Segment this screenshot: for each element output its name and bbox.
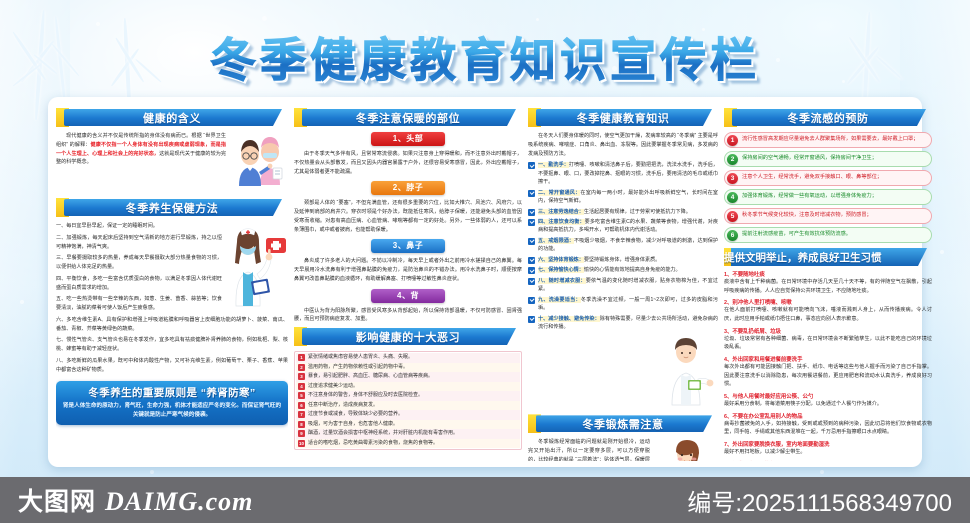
checklist-body: 生活起居要有规律，过于劳累可使抵抗力下降。	[584, 209, 691, 215]
section-header-winter-wellness: 冬季养生保健方法	[56, 198, 288, 217]
part-badge-head: 1、头部	[371, 132, 445, 146]
habit-text: 暴食，易引起肥胖、高血压、糖尿病、心血管病等疾病。	[308, 373, 433, 381]
list-item: 1流行性感冒高发期应尽量避免去人群聚集场所，如果需要去，最好戴上口罩；	[724, 132, 932, 148]
habit-number: 9	[298, 430, 305, 437]
habit-text: 过度节食或减食，导致体缺少必要的营养。	[308, 411, 403, 419]
bad-habits-list: 1紧张情绪或焦虑容易使人患胃炎、头痛、失眠。 2滥用药物，产生药物依赖性或引起药…	[294, 351, 522, 450]
check-icon	[528, 278, 535, 285]
running-girl-illustration	[654, 438, 718, 461]
checklist-lead: 十、减少接触、避免传染：	[538, 316, 600, 322]
list-item: 3、不要乱扔纸屑、垃圾垃圾、垃圾常常有各种细菌、病毒，在日常环境会不断繁殖孳生，…	[724, 327, 932, 352]
section-title: 冬季养生保健方法	[56, 200, 288, 216]
list-item: 五、戒烟限酒：不吸烟少吸烟，不食辛辣食物，减少对呼吸道的刺激，达到保护的功能。	[528, 237, 718, 254]
winter-principle-box: 冬季养生的重要原则是 “养肾防寒” 肾是人体生命的原动力，肾气旺，生命力强，机体…	[56, 381, 288, 425]
watermark-left: 大图网 DAIMG.com	[18, 482, 253, 518]
list-item: 七、保持愉快心情：愉快的心情能有效地提高自身免疫的能力。	[528, 266, 718, 274]
hygiene-head: 3、不要乱扔纸屑、垃圾	[724, 327, 932, 335]
list-item: 6、不要在办公室乱用别人的物品病毒抄菌被免的入手，如持接触，受到或或预到的病种污…	[724, 412, 932, 437]
habit-number: 8	[298, 421, 305, 428]
wellness-item: 八、多吃新鲜的瓜果水果，既可中和体内酸性产物，又可补充维生素，例如葡萄干、栗子、…	[56, 357, 288, 375]
doctor-illustration	[662, 335, 718, 412]
content-panel: 健康的含义	[48, 97, 922, 467]
habit-text: 滥用药物，产生药物依赖性或引起药物中毒。	[308, 364, 408, 372]
list-item: 7过度节食或减食，导致体缺少必要的营养。	[296, 410, 520, 420]
item-text: 秋冬季节气候变化较快，注意及时增减衣物，预防感冒；	[742, 212, 872, 219]
list-item: 四、注意饮食均衡：要多吃富含维生素C的水果、蔬菜等食物，增强代谢，对疾病和提高抵…	[528, 218, 718, 235]
hygiene-body: 最好采用分食制，将每道菜用筷子分配，以免通过个人餐勺作为媒介。	[724, 400, 932, 409]
item-number: 5	[727, 211, 738, 222]
habit-number: 6	[298, 402, 305, 409]
item-number: 3	[727, 173, 738, 184]
part-badge-back: 4、背	[371, 289, 445, 303]
hygiene-body: 在他人面前打喷嚏、咳嗽就有可能喷向飞沫，唾液而溅到人身上，从而传播疾病。令人讨厌…	[724, 306, 932, 323]
checklist-text: 一、勤洗手：打喷嚏、咳嗽和清洁鼻子后，要勤把把洗，洗法水洗手，洗手后，不要抠鼻、…	[538, 161, 718, 186]
section-title: 影响健康的十大恶习	[294, 329, 522, 345]
checklist-lead: 六、坚持体育锻炼：	[538, 257, 584, 263]
list-item: 4、外出回家和用餐进餐前要洗手每次外出都有可能因接触门把、扶手、纸巾、电话等这些…	[724, 355, 932, 389]
habit-text: 紧张情绪或焦虑容易使人患胃炎、头痛、失眠。	[308, 354, 413, 362]
hygiene-body: 病毒抄菌被免的入手，如持接触，受到或或预到的病种污染，因此切忌将他们饮食物或衣物…	[724, 420, 932, 437]
item-number: 4	[727, 192, 738, 203]
list-item: 二、常开窗通风：在室内每一两小时，最好能外出呼吸新鲜空气，长时间在室内，保持空气…	[528, 189, 718, 206]
hygiene-head: 7、外出回家要脱换衣服，室内地面要勤湿洗	[724, 440, 932, 448]
section-title: 冬季流感的预防	[724, 110, 932, 126]
check-icon	[528, 297, 535, 304]
item-text: 保持房间的空气通畅，经常开窗通风，保持房间干净卫生；	[742, 155, 877, 162]
check-icon	[528, 190, 535, 197]
checklist-lead: 三、注意劳逸结合：	[538, 209, 584, 215]
education-checklist: 一、勤洗手：打喷嚏、咳嗽和清洁鼻子后，要勤把把洗，洗法水洗手，洗手后，不要抠鼻、…	[528, 161, 718, 331]
check-icon	[528, 316, 535, 323]
part-text-head: 由于冬季天气多伴有风，且常常寒流侵袭。如果只注意身上穿得暖和，而不注意外出时戴帽…	[294, 150, 522, 176]
check-icon	[528, 238, 535, 245]
item-text: 提前注射流感疫苗，可产生有效抗体预防流感。	[742, 231, 851, 238]
section-title: 冬季健康教育知识	[528, 110, 718, 126]
habit-text: 过度追求健美少运动。	[308, 383, 358, 391]
section-title: 提供文明举止，养成良好卫生习惯	[724, 252, 882, 264]
hygiene-habits-list: 1、不要随地吐痰痰液中含有上千种病菌。在日常环境中存活几天至几十天不等，有的伴随…	[724, 270, 932, 461]
nurse-illustration	[226, 222, 288, 313]
list-item: 8、经常开窗通风换气无论春、夏、秋、冬，每天均应开窗通风换气，开启空调时，也应如…	[724, 460, 932, 461]
check-icon	[528, 257, 535, 264]
wellness-item: 七、慢性气管炎、支气管炎也易在冬季发作，宜多吃具有祛痰健脾补肾养肺的食物，例如枇…	[56, 336, 288, 354]
hygiene-head: 8、经常开窗通风换气	[724, 460, 932, 461]
asset-code: 编号:2025111568349700	[687, 483, 952, 518]
list-item: 八、随时增减衣服：要依气温的变化随时增减衣服，贴身衣物棉为佳，不宜过紧。	[528, 277, 718, 294]
habit-number: 7	[298, 411, 305, 418]
checklist-text: 十、减少接触、避免传染：除有特殊需要，尽量少去公共场所活动，避免杂病的流行和传播…	[538, 315, 718, 332]
section-header-winter-exercise: 冬季锻炼需注意	[528, 414, 718, 433]
checklist-body: 要坚持锻炼身体，增强身体素质。	[584, 257, 660, 263]
check-icon	[528, 267, 535, 274]
list-item: 2、别冲他人里打喷嚏、咳嗽在他人面前打喷嚏、咳嗽就有可能喷向飞沫，唾液而溅到人身…	[724, 298, 932, 323]
checklist-body: 愉快的心情能有效地提高自身免疫的能力。	[584, 267, 681, 273]
watermark-cn: 大图网	[18, 482, 96, 518]
list-item: 4过度追求健美少运动。	[296, 382, 520, 392]
item-text: 加强体育锻炼，经常做一些有氧运动，以增强身体免疫力；	[742, 193, 877, 200]
checklist-lead: 九、洗澡要适当：	[538, 297, 581, 303]
column-education-knowledge: 冬季健康教育知识 在冬天人们要身体暖的同时，使空气更加干燥，发病率较高的 “冬季…	[528, 105, 718, 461]
section-header-hygiene-habits: 提供文明举止，养成良好卫生习惯	[724, 248, 932, 266]
list-item: 6任意中断治疗，造成疾病复发。	[296, 401, 520, 411]
section-header-winter-education: 冬季健康教育知识	[528, 108, 718, 127]
habit-number: 4	[298, 383, 305, 390]
list-item: 九、洗澡要适当：冬季洗澡不宜过频，一般一周1~2次即可，过多的皮脂和污垢。	[528, 296, 718, 313]
checklist-lead: 五、戒烟限酒：	[538, 238, 574, 244]
education-intro: 在冬天人们要身体暖的同时，使空气更加干燥，发病率较高的 “冬季病” 主要是呼吸系…	[528, 132, 718, 158]
item-number: 2	[727, 154, 738, 165]
list-item: 5不注意身体的警告，身体不舒服应及时去医院检查。	[296, 391, 520, 401]
habit-text: 不注意身体的警告，身体不舒服应及时去医院检查。	[308, 392, 423, 400]
habit-number: 5	[298, 392, 305, 399]
checklist-text: 八、随时增减衣服：要依气温的变化随时增减衣服，贴身衣物棉为佳，不宜过紧。	[538, 277, 718, 294]
habit-text: 适合的嗜吃烟，忌吃黄曲霉素污染的食物，烧焦的食物等。	[308, 440, 438, 448]
list-item: 2保持房间的空气通畅，经常开窗通风，保持房间干净卫生；	[724, 151, 932, 167]
section-title: 冬季锻炼需注意	[528, 416, 718, 432]
column-health-basics: 健康的含义	[56, 105, 288, 461]
habit-number: 10	[298, 440, 305, 447]
list-item: 4加强体育锻炼，经常做一些有氧运动，以增强身体免疫力；	[724, 189, 932, 205]
habit-text: 任意中断治疗，造成疾病复发。	[308, 402, 378, 410]
section-header-keep-warm-parts: 冬季注意保暖的部位	[294, 108, 522, 127]
section-title: 健康的含义	[56, 110, 288, 126]
list-item: 7、外出回家要脱换衣服，室内地面要勤湿洗最好不用扫地板，以减少解尘带生。	[724, 440, 932, 457]
hygiene-body: 痰液中含有上千种病菌。在日常环境中存活几天至几十天不等，有的伴随空气在飘散，引起…	[724, 278, 932, 295]
checklist-lead: 七、保持愉快心情：	[538, 267, 584, 273]
item-number: 1	[727, 135, 738, 146]
hygiene-body: 每次外出都有可能因接触门把、扶手、纸巾、电话等这些与他人握手而污染了自己手指掌。…	[724, 363, 932, 389]
checklist-lead: 八、随时增减衣服：	[538, 278, 586, 284]
list-item: 5、与他人用餐时最好应用公筷、公勺最好采用分食制，将每道菜用筷子分配，以免通过个…	[724, 392, 932, 409]
part-text-back: 中医认为背为阳脉所聚，感冒受风寒多从背部起始，所以保持背部温暖，不仅可防感冒、固…	[294, 307, 522, 325]
list-item: 1、不要随地吐痰痰液中含有上千种病菌。在日常环境中存活几天至几十天不等，有的伴随…	[724, 270, 932, 295]
list-item: 1紧张情绪或焦虑容易使人患胃炎、头痛、失眠。	[296, 353, 520, 363]
column-body-parts: 冬季注意保暖的部位 1、头部 由于冬季天气多伴有风，且常常寒流侵袭。如果只注意身…	[294, 105, 522, 461]
checklist-lead: 四、注意饮食均衡：	[538, 219, 585, 225]
principle-title: 冬季养生的重要原则是 “养肾防寒”	[62, 385, 282, 400]
watermark-en: DAIMG.com	[105, 487, 253, 517]
checklist-text: 六、坚持体育锻炼：要坚持锻炼身体，增强身体素质。	[538, 256, 660, 264]
section-header-flu-prevention: 冬季流感的预防	[724, 108, 932, 127]
hygiene-head: 6、不要在办公室乱用别人的物品	[724, 412, 932, 420]
wellness-item: 六、多吃含维生素A、具有保护和增强上呼吸道粘膜和呼吸器官上皮细胞功能的胡萝卜、菠…	[56, 316, 288, 334]
checklist-lead: 二、常开窗通风：	[538, 190, 580, 196]
list-item: 3暴食，易引起肥胖、高血压、糖尿病、心血管病等疾病。	[296, 372, 520, 382]
doctor-couple-illustration	[230, 132, 288, 193]
habit-text: 吸烟，可为害于自身，也危害他人健康。	[308, 421, 398, 429]
checklist-text: 五、戒烟限酒：不吸烟少吸烟，不食辛辣食物，减少对呼吸道的刺激，达到保护的功能。	[538, 237, 718, 254]
hygiene-head: 1、不要随地吐痰	[724, 270, 932, 278]
section-header-health-meaning: 健康的含义	[56, 108, 288, 127]
checklist-text: 二、常开窗通风：在室内每一两小时，最好能外出呼吸新鲜空气，长时间在室内，保持空气…	[538, 189, 718, 206]
checklist-text: 七、保持愉快心情：愉快的心情能有效地提高自身免疫的能力。	[538, 266, 681, 274]
part-badge-neck: 2、脖子	[371, 181, 445, 195]
poster-title-wrap: 冬季健康教育知识宣传栏	[0, 24, 970, 90]
list-item: 2滥用药物，产生药物依赖性或引起药物中毒。	[296, 363, 520, 373]
list-item: 5秋冬季节气候变化较快，注意及时增减衣物，预防感冒；	[724, 208, 932, 224]
list-item: 六、坚持体育锻炼：要坚持锻炼身体，增强身体素质。	[528, 256, 718, 264]
list-item: 三、注意劳逸结合：生活起居要有规律，过于劳累可使抵抗力下降。	[528, 208, 718, 216]
habit-number: 3	[298, 373, 305, 380]
item-number: 6	[727, 230, 738, 241]
principle-body: 肾是人体生命的原动力，肾气旺，生命力强，机体才能适应严冬的变化。而保证肾气旺的关…	[62, 402, 282, 420]
list-item: 6提前注射流感疫苗，可产生有效抗体预防流感。	[724, 227, 932, 243]
habit-number: 1	[298, 354, 305, 361]
part-badge-nose: 3、鼻子	[371, 239, 445, 253]
list-item: 十、减少接触、避免传染：除有特殊需要，尽量少去公共场所活动，避免杂病的流行和传播…	[528, 315, 718, 332]
list-item: 9酗酒，过量饮酒会损害中枢神经系统，并对肝脏内机能有毒害作用。	[296, 429, 520, 439]
checklist-text: 四、注意饮食均衡：要多吃富含维生素C的水果、蔬菜等食物，增强代谢，对疾病和提高抵…	[538, 218, 718, 235]
flu-prevention-list: 1流行性感冒高发期应尽量避免去人群聚集场所，如果需要去，最好戴上口罩； 2保持房…	[724, 132, 932, 243]
list-item: 8吸烟，可为害于自身，也危害他人健康。	[296, 420, 520, 430]
item-text: 注意个人卫生，经常洗手，避免双手接触口、眼、鼻等部位；	[742, 174, 882, 181]
item-text: 流行性感冒高发期应尽量避免去人群聚集场所，如果需要去，最好戴上口罩；	[742, 136, 918, 143]
part-text-nose: 鼻炎成了许多老人的大问题。不妨以冷制冷，每天早上或者外出之前用冷水搓揉自己的鼻翼…	[294, 257, 522, 283]
habit-text: 酗酒，过量饮酒会损害中枢神经系统，并对肝脏内机能有毒害作用。	[308, 430, 458, 438]
column-flu-prevention: 冬季流感的预防 1流行性感冒高发期应尽量避免去人群聚集场所，如果需要去，最好戴上…	[724, 105, 932, 461]
section-header-bad-habits: 影响健康的十大恶习	[294, 327, 522, 346]
footer-watermark-bar: 大图网 DAIMG.com 编号:2025111568349700	[0, 477, 970, 523]
check-icon	[528, 162, 535, 169]
part-text-neck: 颈部是人体的 “要塞”，不但充满血管，还有很多重要的穴位，比如大椎穴、风池穴、风…	[294, 199, 522, 234]
hygiene-head: 5、与他人用餐时最好应用公筷、公勺	[724, 392, 932, 400]
list-item: 3注意个人卫生，经常洗手，避免双手接触口、眼、鼻等部位；	[724, 170, 932, 186]
hygiene-head: 2、别冲他人里打喷嚏、咳嗽	[724, 298, 932, 306]
check-icon	[528, 209, 535, 216]
checklist-text: 九、洗澡要适当：冬季洗澡不宜过频，一般一周1~2次即可，过多的皮脂和污垢。	[538, 296, 718, 313]
checklist-lead: 一、勤洗手：	[538, 162, 569, 168]
hygiene-head: 4、外出回家和用餐进餐前要洗手	[724, 355, 932, 363]
list-item: 10适合的嗜吃烟，忌吃黄曲霉素污染的食物，烧焦的食物等。	[296, 439, 520, 449]
habit-number: 2	[298, 364, 305, 371]
poster-title: 冬季健康教育知识宣传栏	[210, 24, 760, 90]
hygiene-body: 垃圾、垃圾常常有各种细菌、病毒，在日常环境会不断繁殖孳生，以此不能吃自己的环境垃…	[724, 335, 932, 352]
hygiene-body: 最好不用扫地板，以减少解尘带生。	[724, 448, 932, 457]
section-title: 冬季注意保暖的部位	[294, 110, 522, 126]
check-icon	[528, 219, 535, 226]
checklist-text: 三、注意劳逸结合：生活起居要有规律，过于劳累可使抵抗力下降。	[538, 208, 691, 216]
list-item: 一、勤洗手：打喷嚏、咳嗽和清洁鼻子后，要勤把把洗，洗法水洗手，洗手后，不要抠鼻、…	[528, 161, 718, 186]
